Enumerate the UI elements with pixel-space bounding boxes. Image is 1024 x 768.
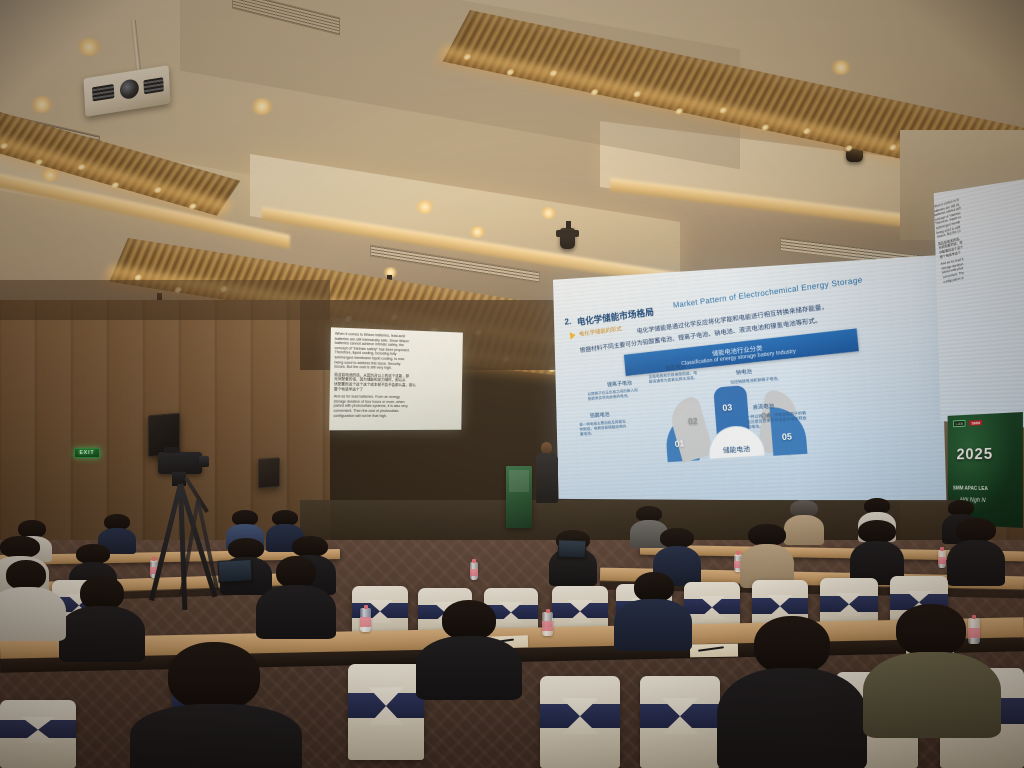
- podium: [506, 466, 532, 528]
- slide-title-en: Market Pattern of Electrochemical Energy…: [673, 275, 863, 310]
- main-screen-surface: 2. 电化学储能市场格局 Market Pattern of Electroch…: [553, 255, 946, 501]
- laptop-2[interactable]: [558, 540, 587, 559]
- attendee-b3-head: [228, 538, 264, 559]
- chair-c8-sash: [752, 598, 808, 614]
- bottle-b4-label: [938, 557, 946, 564]
- fan-num-03: 03: [722, 402, 732, 413]
- left-caption-block: When it comes to lithium batteries, lead…: [333, 332, 459, 419]
- lc-en2-5: configuration will not be that high.: [333, 413, 457, 418]
- presenter-body: [536, 453, 558, 503]
- projector-vent-right: [143, 77, 163, 94]
- attendee-b9-shoulders: [947, 540, 1005, 586]
- bottle-b4: [938, 550, 946, 568]
- fan-num-01: 01: [674, 438, 684, 448]
- attendee-center-back: [268, 556, 324, 636]
- attendee-lu-shoulders: [0, 587, 66, 641]
- attendee-b9-head: [956, 518, 996, 542]
- attendee-b6-head: [660, 528, 694, 548]
- seg-02-desc: 以锂离子在正负极之间的嵌入和脱嵌来实现充放电的电池。: [587, 387, 638, 401]
- downlight-4: [415, 200, 435, 214]
- attendee-mid-right: [884, 604, 980, 734]
- bottle-b2-label: [470, 569, 478, 576]
- downlight-2: [30, 96, 54, 113]
- attendee-a5: [636, 506, 662, 548]
- fan-num-02: 02: [688, 416, 698, 427]
- camera-handle: [164, 447, 180, 453]
- bottle-d2: [542, 612, 553, 636]
- downlight-5: [469, 226, 486, 238]
- main-projection-screen: 2. 电化学储能市场格局 Market Pattern of Electroch…: [553, 255, 946, 501]
- left-screen-panel: When it comes to lithium batteries, lead…: [329, 327, 463, 430]
- downlight-9: [830, 60, 852, 75]
- right-banner-logos: LAB SMM: [953, 419, 982, 427]
- chair-c5-sash: [552, 603, 608, 618]
- attendee-b8: [858, 520, 896, 584]
- attendee-lm-shoulders: [59, 606, 145, 662]
- attendee-left-upper: [0, 560, 54, 638]
- seg-01-desc: 是一种电极主要由铅及其氧化物制成，电解液是硫酸溶液的蓄电池。: [579, 419, 627, 437]
- right-smm-logo: SMM: [970, 420, 982, 425]
- attendee-f2-shoulders: [717, 668, 867, 768]
- downlight-6: [540, 207, 557, 219]
- attendee-b2-head: [76, 544, 110, 564]
- attendee-mid-center: [432, 600, 506, 696]
- wall-speaker-2: [258, 457, 280, 489]
- conference-hall-photo: EXIT 2. 电化学储能市场格局 Market Pattern of Elec…: [0, 0, 1024, 768]
- projector-icon: [84, 65, 171, 117]
- projector-lens: [120, 78, 140, 100]
- chair-e3[interactable]: [540, 676, 620, 768]
- video-camera: [158, 452, 202, 474]
- attendee-lu-head: [6, 560, 46, 590]
- projector-vent-left: [92, 84, 114, 101]
- attendee-right-mid2: [626, 572, 680, 648]
- attendee-b4-head: [292, 536, 328, 557]
- chair-e2[interactable]: [348, 664, 424, 760]
- attendee-rm2-shoulders: [614, 599, 692, 651]
- bottle-d2-label: [542, 621, 553, 631]
- attendee-mr-shoulders: [863, 652, 1001, 738]
- podium-branding-panel: [509, 470, 529, 492]
- bottle-b2: [470, 562, 478, 580]
- exit-sign-label: EXIT: [79, 450, 94, 456]
- downlight-3: [250, 98, 274, 115]
- camera-lens: [199, 456, 209, 467]
- lc-cn-4: 整个电话学这个了: [334, 387, 458, 393]
- laptop-1[interactable]: [217, 559, 252, 583]
- attendee-b8-head: [858, 520, 896, 543]
- chair-c9-sash: [820, 596, 878, 612]
- attendee-cb-shoulders: [256, 585, 337, 639]
- chair-e4[interactable]: [640, 676, 720, 768]
- attendee-b7-head: [748, 524, 786, 546]
- attendee-f2-head: [754, 616, 830, 674]
- attendee-mr-head: [896, 604, 966, 656]
- chair-e2-sash: [348, 693, 424, 718]
- chair-e7[interactable]: [0, 700, 76, 768]
- attendee-b9: [956, 518, 996, 584]
- fan-num-05: 05: [781, 431, 792, 442]
- attendee-f1-shoulders: [130, 704, 303, 768]
- attendee-mc-shoulders: [416, 636, 523, 700]
- right-banner-subtitle-en: SMM APAC LEA: [953, 486, 988, 493]
- attendee-foreground-2: [740, 616, 844, 768]
- attendee-lm-head: [80, 576, 124, 610]
- presenter: [536, 442, 558, 504]
- slide-section-number: 2.: [564, 316, 571, 326]
- attendee-b7: [748, 524, 786, 586]
- laptop-2-screen: [559, 541, 586, 558]
- wall-upper-left-shadow: [0, 280, 330, 320]
- chair-c7-sash: [684, 599, 740, 614]
- chair-e4-sash: [640, 704, 720, 728]
- right-caption-block: When it comes to lit batteries are still…: [934, 180, 1024, 284]
- attendee-b1-head: [0, 536, 40, 558]
- bottle-d1: [360, 608, 371, 632]
- laptop-1-screen: [218, 560, 251, 582]
- spotlight-2: [560, 228, 575, 249]
- seg-01-label: 铅酸电池: [590, 410, 610, 419]
- seg-04-label: 钠电池: [735, 367, 752, 376]
- seg-05-label: 液流电池: [752, 402, 774, 412]
- attendee-left-mid: [72, 576, 132, 660]
- downlight-1: [76, 38, 102, 56]
- attendee-cb-head: [276, 556, 316, 588]
- exit-sign: EXIT: [74, 448, 100, 458]
- right-lab-logo: LAB: [953, 420, 966, 427]
- attendee-a6: [790, 500, 818, 544]
- attendee-a6-shoulders: [784, 515, 824, 545]
- bottle-d1-label: [360, 617, 371, 627]
- chair-e7-sash: [0, 720, 76, 738]
- right-projection-screen: When it comes to lit batteries are still…: [934, 179, 1024, 428]
- chair-e3-sash: [540, 704, 620, 728]
- fan-center-label: 储能电池: [723, 444, 751, 458]
- slide-bullet-icon: [570, 331, 576, 339]
- attendee-f1-head: [168, 642, 260, 710]
- attendee-foreground-1: [156, 642, 276, 768]
- attendee-mc-head: [442, 600, 496, 640]
- right-screen-surface: When it comes to lit batteries are still…: [934, 179, 1024, 428]
- right-banner-year: 2025: [957, 446, 994, 464]
- attendee-rm2-head: [634, 572, 674, 602]
- seg-02-label: 锂离子电池: [607, 379, 632, 389]
